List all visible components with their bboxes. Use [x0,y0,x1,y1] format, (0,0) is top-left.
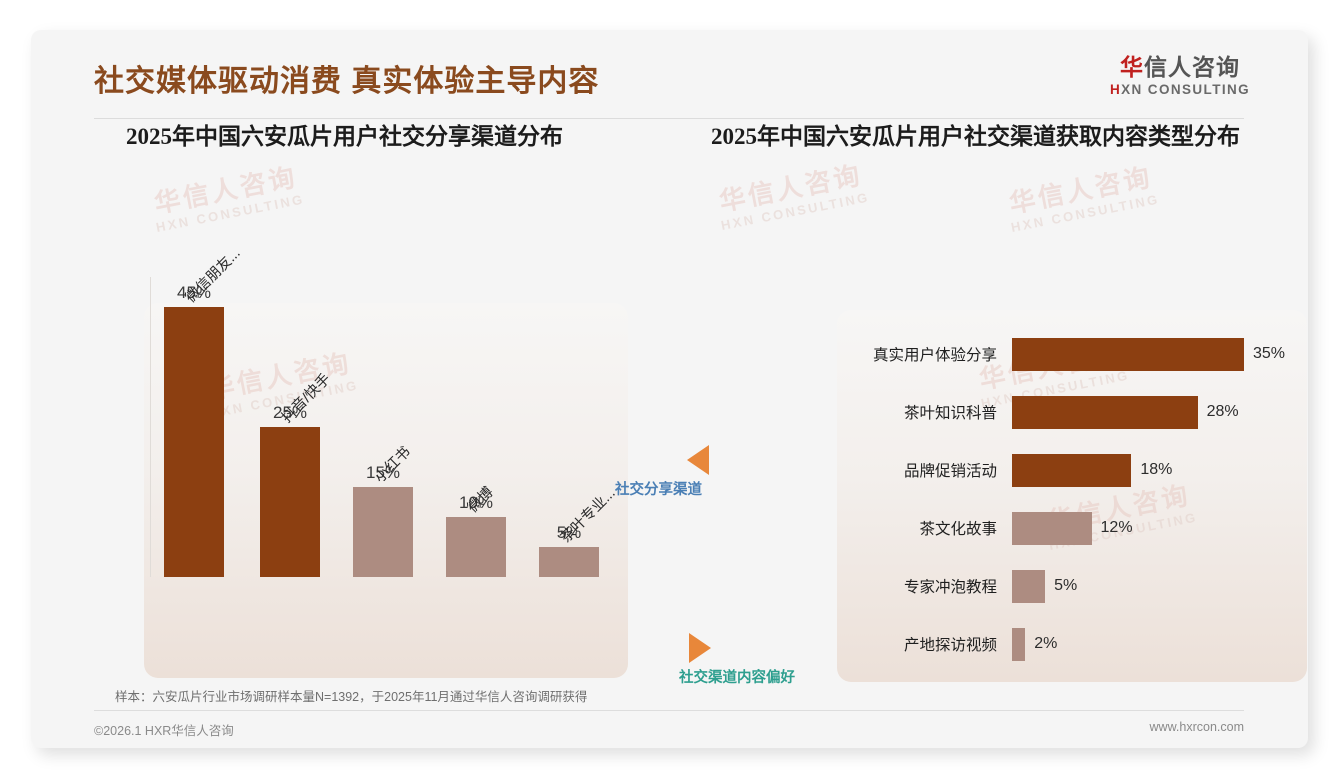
y-axis-line [150,277,151,577]
header-divider [94,118,1244,119]
bar-column[interactable]: 10%微博 [446,494,506,577]
bar-row[interactable]: 品牌促销活动18% [845,441,1308,499]
bar-value-label: 28% [1198,403,1239,421]
bar-value-label: 18% [1131,461,1172,479]
chart-panel-right: 2025年中国六安瓜片用户社交渠道获取内容类型分布 华信人咨询 HXN CONS… [677,125,1247,148]
bar-column[interactable]: 15%小红书 [353,464,413,577]
bar[interactable] [1012,512,1092,545]
watermark: 华信人咨询 HXN CONSULTING [1004,163,1161,235]
vertical-bar-chart: 45%微信朋友...25%抖音/快手15%小红书10%微博5%茶叶专业... [150,275,623,705]
slide-card: 社交媒体驱动消费 真实体验主导内容 华信人咨询 HXN CONSULTING 2… [31,30,1308,748]
logo-english: HXN CONSULTING [1090,82,1270,97]
watermark: 华信人咨询 HXN CONSULTING [149,163,306,235]
bar-row[interactable]: 专家冲泡教程5% [845,557,1308,615]
bar[interactable] [539,547,599,577]
bar[interactable] [353,487,413,577]
slide-footer: ©2026.1 HXR华信人咨询 www.hxrcon.com [94,720,1244,746]
annotation-share-channel: 社交分享渠道 [615,445,709,498]
footer-divider [94,710,1244,711]
chart-title-right: 2025年中国六安瓜片用户社交渠道获取内容类型分布 [711,125,1247,148]
annotation-content-preference: 社交渠道内容偏好 [679,633,795,686]
y-axis-tick-label: 品牌促销活动 [845,459,1012,481]
logo-cn-accent: 华 [1120,54,1144,80]
logo-en-accent: H [1110,82,1121,97]
bar-value-label: 2% [1025,635,1057,653]
triangle-left-icon [687,445,709,475]
website-url: www.hxrcon.com [1150,720,1244,734]
y-axis-tick-label: 真实用户体验分享 [845,343,1012,365]
bar-value-label: 35% [1244,345,1285,363]
brand-logo: 华信人咨询 HXN CONSULTING [1090,55,1270,97]
annotation-content-preference-label: 社交渠道内容偏好 [679,671,795,686]
page-title: 社交媒体驱动消费 真实体验主导内容 [94,56,599,100]
bar[interactable] [164,307,224,577]
bar[interactable] [260,427,320,577]
bar-column[interactable]: 5%茶叶专业... [539,524,599,577]
bar-value-label: 5% [1045,577,1077,595]
chart-title-left: 2025年中国六安瓜片用户社交分享渠道分布 [126,125,624,148]
bar[interactable] [1012,570,1045,603]
y-axis-tick-label: 茶叶知识科普 [845,401,1012,423]
logo-en-rest: XN CONSULTING [1121,82,1250,97]
bar[interactable] [1012,628,1025,661]
y-axis-tick-label: 产地探访视频 [845,633,1012,655]
bar-column[interactable]: 25%抖音/快手 [260,404,320,577]
bar[interactable] [1012,396,1198,429]
charts-region: 2025年中国六安瓜片用户社交分享渠道分布 华信人咨询 HXN CONSULTI… [31,125,1308,685]
y-axis-tick-label: 茶文化故事 [845,517,1012,539]
bar[interactable] [446,517,506,577]
bar[interactable] [1012,454,1131,487]
bar-row[interactable]: 茶叶知识科普28% [845,383,1308,441]
bar-row[interactable]: 产地探访视频2% [845,615,1308,673]
bar[interactable] [1012,338,1244,371]
annotation-share-channel-label: 社交分享渠道 [615,483,709,498]
watermark: 华信人咨询 HXN CONSULTING [714,161,871,233]
slide-stage: 社交媒体驱动消费 真实体验主导内容 华信人咨询 HXN CONSULTING 2… [0,0,1340,780]
slide-header: 社交媒体驱动消费 真实体验主导内容 华信人咨询 HXN CONSULTING [31,30,1308,118]
sample-footnote: 样本：六安瓜片行业市场调研样本量N=1392，于2025年11月通过华信人咨询调… [115,686,587,705]
y-axis-tick-label: 专家冲泡教程 [845,575,1012,597]
bar-row[interactable]: 茶文化故事12% [845,499,1308,557]
chart-panel-left: 2025年中国六安瓜片用户社交分享渠道分布 华信人咨询 HXN CONSULTI… [94,125,624,148]
triangle-right-icon [689,633,711,663]
copyright-text: ©2026.1 HXR华信人咨询 [94,720,234,739]
logo-cn-rest: 信人咨询 [1144,54,1240,80]
bar-column[interactable]: 45%微信朋友... [164,284,224,577]
logo-chinese: 华信人咨询 [1090,55,1270,80]
horizontal-bar-chart: 真实用户体验分享35%茶叶知识科普28%品牌促销活动18%茶文化故事12%专家冲… [845,325,1308,673]
bar-row[interactable]: 真实用户体验分享35% [845,325,1308,383]
bar-value-label: 12% [1092,519,1133,537]
